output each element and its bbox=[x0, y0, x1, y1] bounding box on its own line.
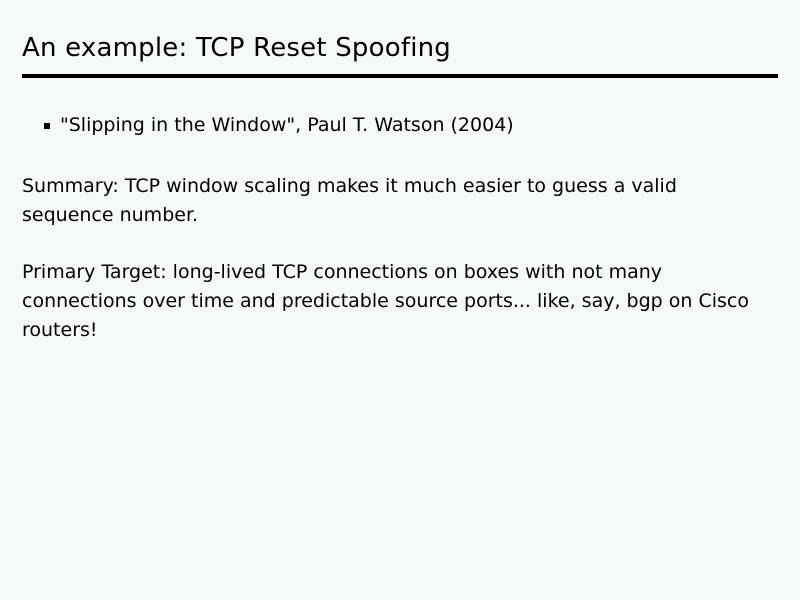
bullet-list: "Slipping in the Window", Paul T. Watson… bbox=[44, 112, 774, 138]
page-title: An example: TCP Reset Spoofing bbox=[22, 32, 778, 64]
title-block: An example: TCP Reset Spoofing bbox=[22, 32, 778, 64]
slide-canvas: An example: TCP Reset Spoofing "Slipping… bbox=[0, 0, 800, 600]
square-bullet-icon bbox=[44, 123, 50, 129]
list-item-label: "Slipping in the Window", Paul T. Watson… bbox=[60, 112, 774, 138]
body-block: Summary: TCP window scaling makes it muc… bbox=[22, 172, 774, 345]
primary-target-paragraph: Primary Target: long-lived TCP connectio… bbox=[22, 258, 774, 345]
list-item: "Slipping in the Window", Paul T. Watson… bbox=[44, 112, 774, 138]
title-underline-rule bbox=[22, 74, 778, 78]
summary-paragraph: Summary: TCP window scaling makes it muc… bbox=[22, 172, 774, 230]
